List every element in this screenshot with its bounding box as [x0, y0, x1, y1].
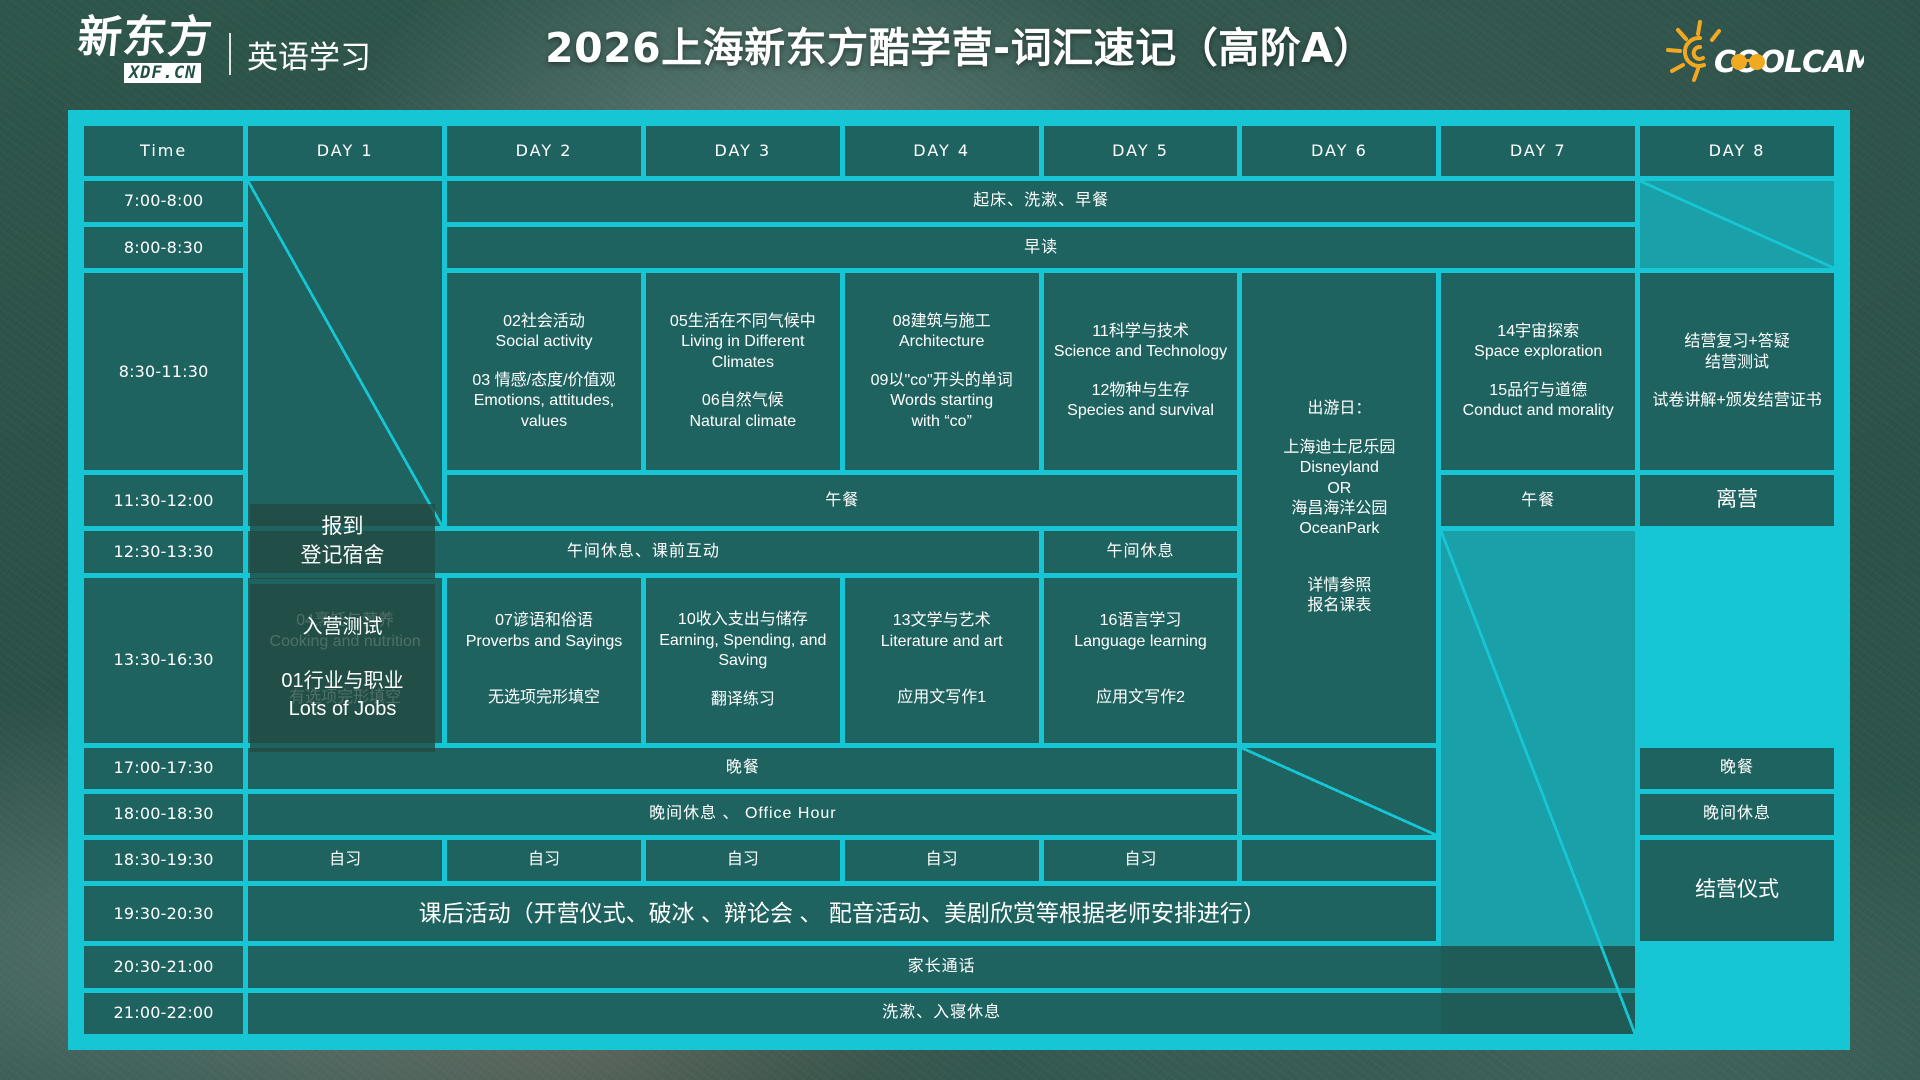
day2-lesson2-en: Emotions, attitudes, values	[451, 391, 637, 432]
day3-aft-cn: 07谚语和俗语	[451, 611, 637, 631]
spacer	[1048, 652, 1234, 670]
cell-day6-trip: 出游日： 上海迪士尼乐园 Disneyland OR 海昌海洋公园 OceanP…	[1242, 273, 1436, 742]
cell-day3-afternoon: 07谚语和俗语 Proverbs and Sayings 无选项完形填空	[447, 578, 641, 743]
cell-day7-morning: 14宇宙探索 Space exploration 15品行与道德 Conduct…	[1441, 273, 1635, 470]
day4-self-study: 自习	[845, 840, 1039, 881]
day4-aft-en: Earning, Spending, and Saving	[650, 631, 836, 672]
day4-lesson1-en: Architecture	[849, 332, 1035, 352]
day3-lesson1-en: Living in Different Climates	[650, 332, 836, 373]
band-wakeup: 起床、洗漱、早餐	[447, 181, 1635, 222]
band-evening-rest: 晚间休息 、 Office Hour	[248, 794, 1237, 835]
header-day-3: DAY 3	[646, 126, 840, 176]
row-wakeup: 7:00-8:00 起床、洗漱、早餐	[84, 181, 1834, 222]
spacer	[849, 353, 1035, 371]
day6-or: OR	[1246, 479, 1432, 499]
header-day-6: DAY 6	[1242, 126, 1436, 176]
header-day-8: DAY 8	[1640, 126, 1834, 176]
day6-note2: 报名课表	[1246, 596, 1432, 616]
header-day-1: DAY 1	[248, 126, 442, 176]
day1-morning-empty	[248, 181, 442, 526]
cell-day7-afternoon: 16语言学习 Language learning 应用文写作2	[1044, 578, 1238, 743]
day5-aft-en: Literature and art	[849, 632, 1035, 652]
day5-lesson2-en: Species and survival	[1048, 401, 1234, 421]
day3-lesson1-cn: 05生活在不同气候中	[650, 312, 836, 332]
time-1130-1200: 11:30-12:00	[84, 475, 243, 526]
time-2030-2100: 20:30-21:00	[84, 946, 243, 987]
day6-option2-cn: 海昌海洋公园	[1246, 499, 1432, 519]
cell-day4-afternoon: 10收入支出与储存 Earning, Spending, and Saving …	[646, 578, 840, 743]
coolcamp-logo-svg: COOLCAMP	[1654, 14, 1864, 90]
day5-self-study: 自习	[1044, 840, 1238, 881]
day6-evening-empty	[1242, 748, 1436, 835]
day7-aft-extra: 应用文写作2	[1048, 688, 1234, 708]
day7-lesson1-cn: 14宇宙探索	[1445, 322, 1631, 342]
spacer	[451, 353, 637, 371]
day8-early-empty	[1640, 181, 1834, 268]
cell-day3-morning: 05生活在不同气候中 Living in Different Climates …	[646, 273, 840, 470]
day8-rest-empty	[1441, 531, 1635, 1034]
spacer	[650, 672, 836, 690]
time-830-1130: 8:30-11:30	[84, 273, 243, 470]
time-1830-1930: 18:30-19:30	[84, 840, 243, 881]
spacer	[1048, 670, 1234, 688]
day1-checkin-line2: 登记宿舍	[301, 542, 385, 570]
spacer	[1048, 363, 1234, 381]
day4-lesson1-cn: 08建筑与施工	[849, 312, 1035, 332]
day5-lesson2-cn: 12物种与生存	[1048, 381, 1234, 401]
sun-icon	[1668, 22, 1719, 80]
spacer	[1246, 558, 1432, 576]
day7-dinner: 晚餐	[1640, 748, 1834, 789]
header-time: Time	[84, 126, 243, 176]
day4-aft-extra: 翻译练习	[650, 690, 836, 710]
page-title: 2026上海新东方酷学营-词汇速记（高阶A）	[0, 14, 1920, 74]
cell-day5-afternoon: 13文学与艺术 Literature and art 应用文写作1	[845, 578, 1039, 743]
day4-aft-cn: 10收入支出与储存	[650, 610, 836, 630]
band-wash-sleep: 洗漱、入寝休息	[248, 993, 1635, 1034]
time-8-830: 8:00-8:30	[84, 227, 243, 268]
day1-entry-test: 入营测试	[303, 613, 383, 641]
time-1930-2030: 19:30-20:30	[84, 886, 243, 941]
day7-lunch: 午餐	[1441, 475, 1635, 526]
day7-lesson1-en: Space exploration	[1445, 342, 1631, 362]
day5-aft-extra: 应用文写作1	[849, 688, 1035, 708]
day7-closing-ceremony: 结营仪式	[1640, 840, 1834, 941]
day6-option1-en: Disneyland	[1246, 458, 1432, 478]
band-parent-call: 家长通话	[248, 946, 1635, 987]
time-1230-1330: 12:30-13:30	[84, 531, 243, 572]
spacer	[849, 652, 1035, 670]
day8-line2: 结营测试	[1644, 353, 1830, 373]
day1-lesson-cn: 01行业与职业	[281, 667, 403, 695]
cell-day5-morning: 11科学与技术 Science and Technology 12物种与生存 S…	[1044, 273, 1238, 470]
time-1330-1630: 13:30-16:30	[84, 578, 243, 743]
day7-evening-rest: 晚间休息	[1640, 794, 1834, 835]
header-day-4: DAY 4	[845, 126, 1039, 176]
header-day-2: DAY 2	[447, 126, 641, 176]
day4-lesson2-en: with “co”	[849, 412, 1035, 432]
day7-aft-cn: 16语言学习	[1048, 611, 1234, 631]
time-1700-1730: 17:00-17:30	[84, 748, 243, 789]
day8-line1: 结营复习+答疑	[1644, 332, 1830, 352]
time-2100-2200: 21:00-22:00	[84, 993, 243, 1034]
day3-aft-extra: 无选项完形填空	[451, 688, 637, 708]
band-dinner: 晚餐	[248, 748, 1237, 789]
spacer	[849, 670, 1035, 688]
band-lunch: 午餐	[447, 475, 1237, 526]
table-header-row: Time DAY 1 DAY 2 DAY 3 DAY 4 DAY 5 DAY 6…	[84, 126, 1834, 176]
day3-self-study: 自习	[646, 840, 840, 881]
spacer	[1445, 363, 1631, 381]
day4-lesson2-cn: 09以"co"开头的单词Words starting	[849, 371, 1035, 412]
day6-self-study-empty	[1242, 840, 1436, 881]
cell-day2-morning: 02社会活动 Social activity 03 情感/态度/价值观 Emot…	[447, 273, 641, 470]
day2-lesson2-cn: 03 情感/态度/价值观	[451, 371, 637, 391]
schedule-table-container: Time DAY 1 DAY 2 DAY 3 DAY 4 DAY 5 DAY 6…	[68, 110, 1850, 1050]
day7-aft-en: Language learning	[1048, 632, 1234, 652]
header-day-7: DAY 7	[1441, 126, 1635, 176]
day1-checkin-cell: 报到 登记宿舍	[250, 504, 435, 579]
cell-day4-morning: 08建筑与施工 Architecture 09以"co"开头的单词Words s…	[845, 273, 1039, 470]
spacer	[451, 670, 637, 688]
day5-aft-cn: 13文学与艺术	[849, 611, 1035, 631]
day2-self-study: 自习	[447, 840, 641, 881]
coolcamp-logo: COOLCAMP	[1654, 14, 1864, 90]
day5-lesson1-cn: 11科学与技术	[1048, 322, 1234, 342]
day5-lesson1-en: Science and Technology	[1048, 342, 1234, 362]
day2-lesson1-en: Social activity	[451, 332, 637, 352]
band-after-class: 课后活动（开营仪式、破冰 、辩论会 、 配音活动、美剧欣赏等根据老师安排进行）	[248, 886, 1436, 941]
day6-trip-label: 出游日：	[1246, 399, 1432, 419]
schedule-table: Time DAY 1 DAY 2 DAY 3 DAY 4 DAY 5 DAY 6…	[79, 121, 1839, 1039]
spacer	[1246, 540, 1432, 558]
day3-aft-en: Proverbs and Sayings	[451, 632, 637, 652]
spacer	[1644, 373, 1830, 391]
day1-self-study: 自习	[248, 840, 442, 881]
day6-note1: 详情参照	[1246, 576, 1432, 596]
day1-entry-test-cell: 入营测试 01行业与职业 Lots of Jobs	[250, 584, 435, 752]
cell-day8-morning: 结营复习+答疑 结营测试 试卷讲解+颁发结营证书	[1640, 273, 1834, 470]
day8-line3: 试卷讲解+颁发结营证书	[1644, 391, 1830, 411]
day3-lesson2-en: Natural climate	[650, 412, 836, 432]
day7-lesson2-cn: 15品行与道德	[1445, 381, 1631, 401]
day1-lesson-en: Lots of Jobs	[289, 695, 397, 723]
page-header: 新东方 XDF.CN 英语学习 2026上海新东方酷学营-词汇速记（高阶A） C…	[0, 0, 1920, 100]
spacer	[1246, 420, 1432, 438]
day8-leave: 离营	[1640, 475, 1834, 526]
day6-option2-en: OceanPark	[1246, 519, 1432, 539]
spacer	[650, 373, 836, 391]
band-morning-reading: 早读	[447, 227, 1635, 268]
day3-lesson2-cn: 06自然气候	[650, 391, 836, 411]
day7-lesson2-en: Conduct and morality	[1445, 401, 1631, 421]
day2-lesson1-cn: 02社会活动	[451, 312, 637, 332]
time-1800-1830: 18:00-18:30	[84, 794, 243, 835]
spacer	[451, 652, 637, 670]
time-7-8: 7:00-8:00	[84, 181, 243, 222]
day1-checkin-line1: 报到	[322, 513, 364, 541]
day6-option1-cn: 上海迪士尼乐园	[1246, 438, 1432, 458]
header-day-5: DAY 5	[1044, 126, 1238, 176]
day7-noon-rest: 午间休息	[1044, 531, 1238, 572]
